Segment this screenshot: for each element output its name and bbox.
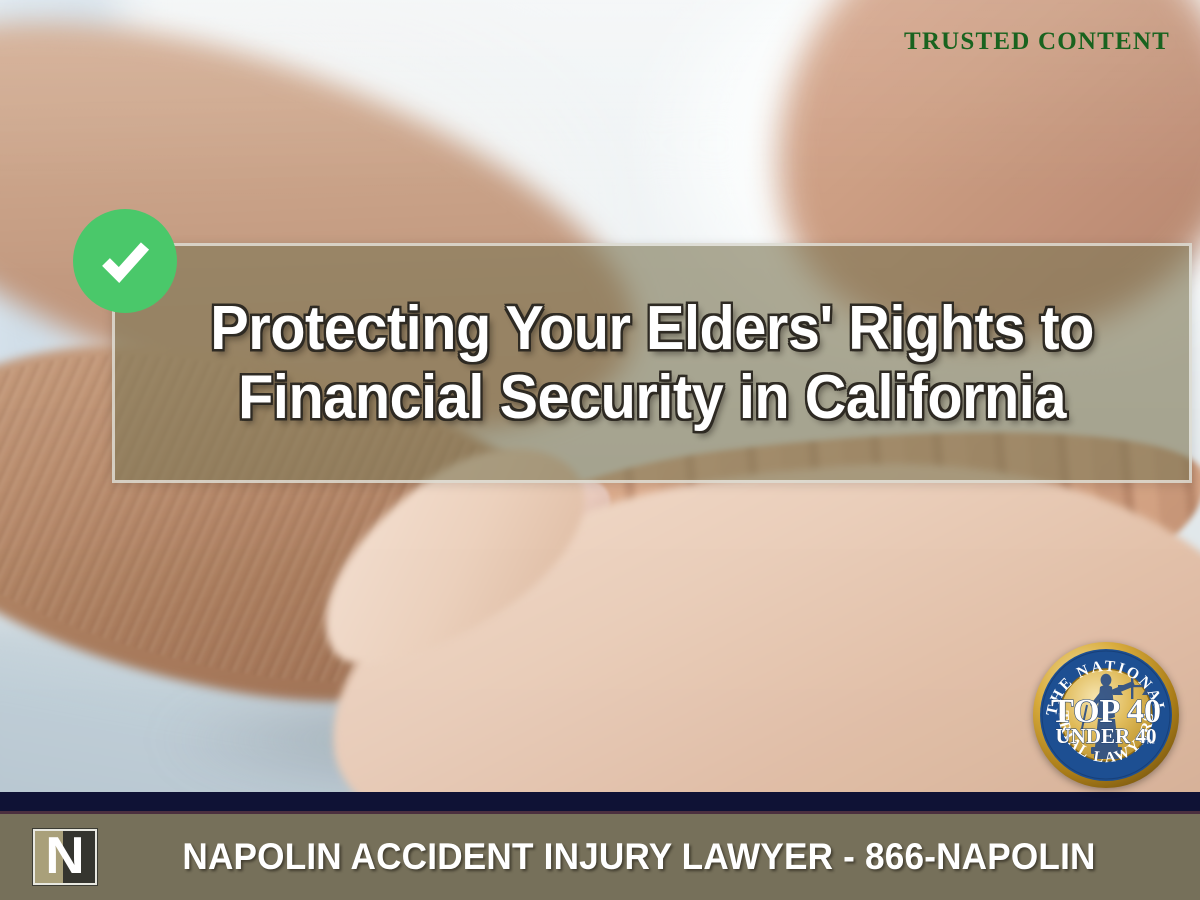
footer-banner: N NAPOLIN ACCIDENT INJURY LAWYER - 866-N… — [0, 814, 1200, 900]
headline-line-1: Protecting Your Elders' Rights to — [193, 294, 1110, 363]
promotional-graphic: TRUSTED CONTENT Protecting Your Elders' … — [0, 0, 1200, 900]
headline-line-2: Financial Security in California — [221, 363, 1082, 432]
seal-trademark-text: TM — [1146, 740, 1155, 746]
trusted-content-label: TRUSTED CONTENT — [904, 28, 1170, 56]
napolin-logo-icon: N — [33, 829, 97, 885]
firm-name-and-phone: NAPOLIN ACCIDENT INJURY LAWYER - 866-NAP… — [125, 836, 1173, 878]
green-check-circle-icon — [73, 209, 177, 313]
seal-sub-text: UNDER 40 — [1056, 724, 1157, 748]
headline-band: Protecting Your Elders' Rights to Financ… — [112, 243, 1192, 483]
top-40-under-40-seal-icon: THE NATIONAL TRIAL LAWYERS TOP 40 UNDER … — [1032, 641, 1180, 789]
logo-letter: N — [34, 830, 97, 882]
navy-accent-bar — [0, 792, 1200, 811]
